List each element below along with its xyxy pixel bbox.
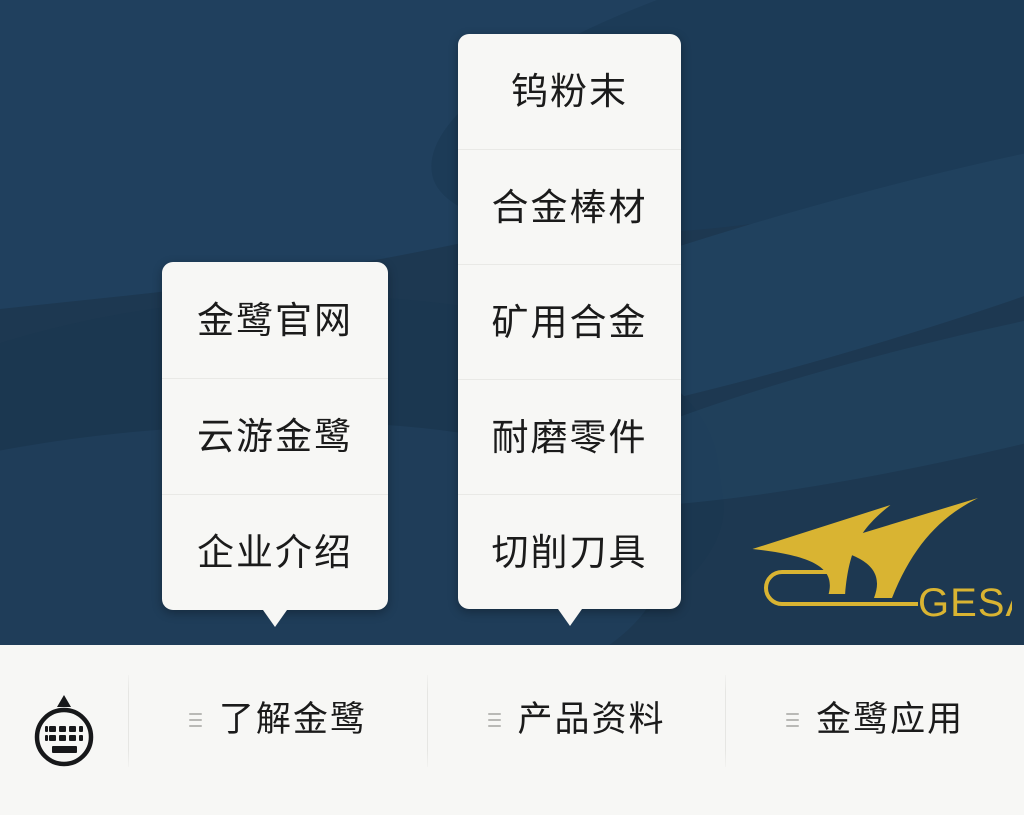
popup-tail	[558, 609, 582, 626]
nav-item-label: 金鹭应用	[816, 703, 964, 738]
popup-about-menu: 金鹭官网 云游金鹭 企业介绍	[162, 262, 388, 610]
nav-item-about[interactable]: 了解金鹭	[129, 645, 427, 815]
hamburger-icon	[786, 713, 799, 727]
popup-item-products-2[interactable]: 矿用合金	[458, 264, 681, 379]
logo-wordmark: GESAC	[918, 581, 1012, 620]
popup-item-label: 企业介绍	[197, 534, 353, 571]
popup-item-label: 钨粉末	[511, 73, 628, 110]
nav-item-label: 了解金鹭	[219, 703, 367, 738]
hamburger-icon	[189, 713, 202, 727]
nav-item-products[interactable]: 产品资料	[428, 645, 726, 815]
popup-tail	[263, 610, 287, 627]
popup-item-products-3[interactable]: 耐磨零件	[458, 379, 681, 494]
popup-item-products-0[interactable]: 钨粉末	[458, 34, 681, 149]
popup-item-products-4[interactable]: 切削刀具	[458, 494, 681, 609]
nav-item-label: 产品资料	[518, 703, 666, 738]
keyboard-icon	[29, 691, 99, 769]
keyboard-button[interactable]	[0, 645, 128, 815]
popup-item-about-2[interactable]: 企业介绍	[162, 494, 388, 610]
nav-item-applications[interactable]: 金鹭应用	[726, 645, 1024, 815]
hamburger-icon	[488, 713, 501, 727]
popup-item-about-1[interactable]: 云游金鹭	[162, 378, 388, 494]
popup-item-label: 耐磨零件	[492, 419, 648, 456]
gesac-logo: GESAC	[742, 492, 1012, 620]
popup-products-menu: 钨粉末 合金棒材 矿用合金 耐磨零件 切削刀具	[458, 34, 681, 609]
popup-item-label: 矿用合金	[492, 304, 648, 341]
bottom-nav-bar: 了解金鹭 产品资料 金鹭应用	[0, 645, 1024, 815]
app-screen: GESAC 金鹭官网 云游金鹭 企业介绍 钨粉末 合金棒材 矿用合金 耐磨零件 …	[0, 0, 1024, 815]
popup-item-label: 金鹭官网	[197, 302, 353, 339]
popup-item-label: 切削刀具	[492, 534, 648, 571]
popup-item-label: 合金棒材	[492, 189, 648, 226]
popup-item-products-1[interactable]: 合金棒材	[458, 149, 681, 264]
popup-item-label: 云游金鹭	[197, 418, 353, 455]
popup-item-about-0[interactable]: 金鹭官网	[162, 262, 388, 378]
